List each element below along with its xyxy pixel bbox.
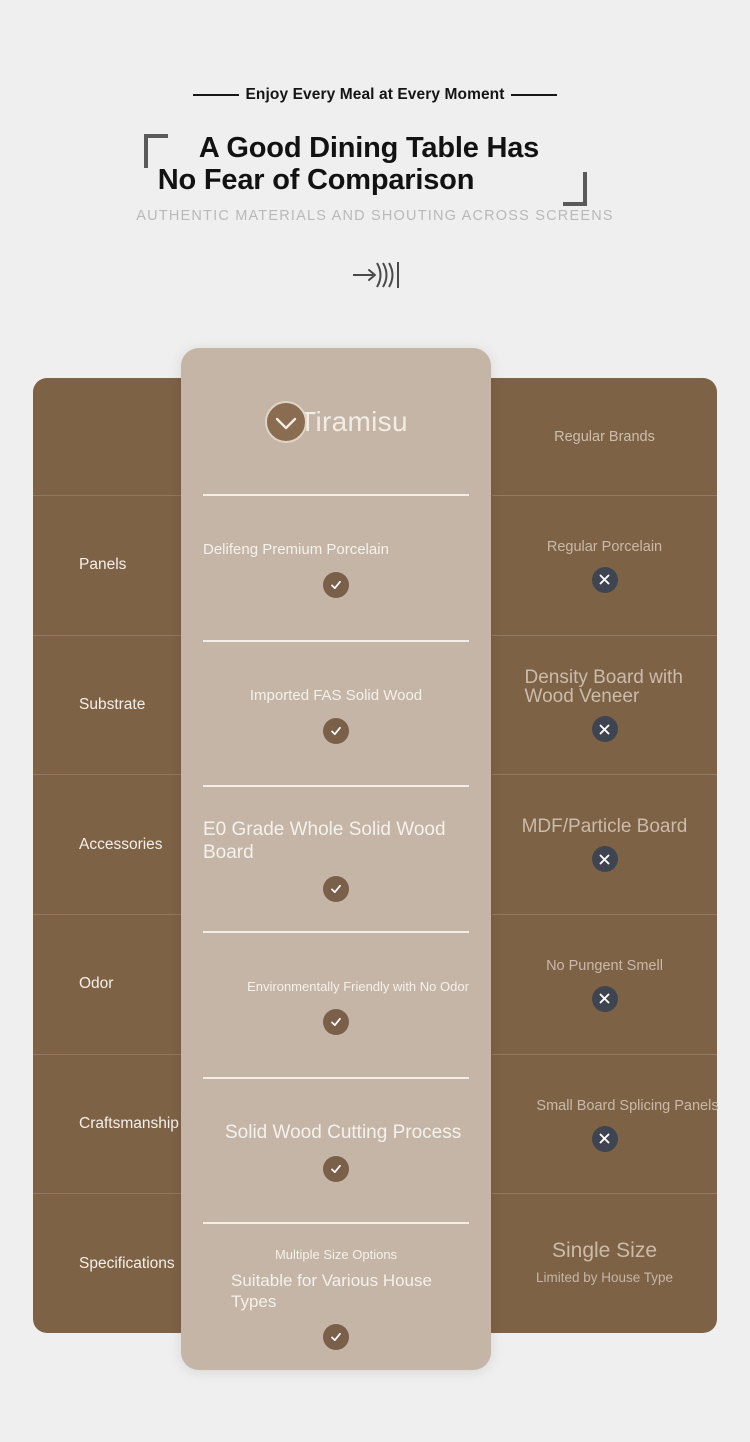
page-title-line-1: A Good Dining Table Has <box>0 132 750 164</box>
eyebrow-rule-left <box>193 94 239 96</box>
check-icon <box>323 876 349 902</box>
brand-highlight-card[interactable]: Tiramisu Delifeng Premium Porcelain Impo… <box>181 348 491 1370</box>
brand-cell-substrate: Imported FAS Solid Wood <box>181 642 491 788</box>
eyebrow-rule-right <box>511 94 557 96</box>
brand-subvalue-specifications: Suitable for Various House Types <box>203 1270 469 1312</box>
brand-header: Tiramisu <box>181 348 491 496</box>
competitor-column-header: Regular Brands <box>492 378 717 496</box>
page-title-line-2: No Fear of Comparison <box>0 164 750 196</box>
competitor-value-panels: Regular Porcelain <box>547 538 662 557</box>
brand-value-craftsmanship: Solid Wood Cutting Process <box>203 1121 469 1144</box>
competitor-cell-substrate: Density Board with Wood Veneer <box>492 636 717 776</box>
cross-icon <box>592 567 618 593</box>
check-icon <box>323 1009 349 1035</box>
competitor-value-odor: No Pungent Smell <box>546 957 663 976</box>
competitor-value-specifications: Single Size <box>552 1241 657 1260</box>
comparison-page: Enjoy Every Meal at Every Moment A Good … <box>0 0 750 1442</box>
page-header: Enjoy Every Meal at Every Moment A Good … <box>0 0 750 330</box>
brand-cell-craftsmanship: Solid Wood Cutting Process <box>181 1079 491 1225</box>
check-circle-logo-icon <box>264 400 308 444</box>
cross-icon <box>592 1126 618 1152</box>
brand-cell-panels: Delifeng Premium Porcelain <box>181 496 491 642</box>
competitor-cell-accessories: MDF/Particle Board <box>492 775 717 915</box>
competitor-header-text: Regular Brands <box>554 429 655 445</box>
page-title: A Good Dining Table Has No Fear of Compa… <box>0 132 750 196</box>
comparison-table: Panels Substrate Accessories Odor Crafts… <box>0 348 750 1393</box>
swipe-right-icon <box>0 258 750 292</box>
competitor-value-accessories: MDF/Particle Board <box>522 817 688 836</box>
competitor-column: Regular Brands Regular Porcelain Density… <box>492 378 717 1333</box>
brand-cell-odor: Environmentally Friendly with No Odor <box>181 933 491 1079</box>
competitor-cell-odor: No Pungent Smell <box>492 915 717 1055</box>
brand-value-substrate: Imported FAS Solid Wood <box>250 686 422 706</box>
brand-value-odor: Environmentally Friendly with No Odor <box>247 977 469 997</box>
cross-icon <box>592 986 618 1012</box>
competitor-cell-craftsmanship: Small Board Splicing Panels <box>492 1055 717 1195</box>
eyebrow-text: Enjoy Every Meal at Every Moment <box>245 86 504 104</box>
brand-cell-specifications: Multiple Size Options Suitable for Vario… <box>181 1224 491 1370</box>
check-icon <box>323 1156 349 1182</box>
competitor-value-substrate: Density Board with Wood Veneer <box>525 668 685 706</box>
competitor-cell-panels: Regular Porcelain <box>492 496 717 636</box>
cross-icon <box>592 846 618 872</box>
check-icon <box>323 1324 349 1350</box>
brand-value-accessories: E0 Grade Whole Solid Wood Board <box>203 818 469 864</box>
check-icon <box>323 572 349 598</box>
brand-name: Tiramisu <box>299 406 408 438</box>
brand-cell-accessories: E0 Grade Whole Solid Wood Board <box>181 787 491 933</box>
brand-value-panels: Delifeng Premium Porcelain <box>203 540 469 560</box>
competitor-subvalue-specifications: Limited by House Type <box>536 1268 673 1287</box>
eyebrow-banner: Enjoy Every Meal at Every Moment <box>0 86 750 104</box>
competitor-cell-specifications: Single Size Limited by House Type <box>492 1194 717 1333</box>
competitor-value-craftsmanship: Small Board Splicing Panels <box>536 1097 718 1116</box>
brand-value-specifications: Multiple Size Options <box>275 1245 397 1265</box>
cross-icon <box>592 716 618 742</box>
page-subtitle: AUTHENTIC MATERIALS AND SHOUTING ACROSS … <box>0 208 750 224</box>
check-icon <box>323 718 349 744</box>
